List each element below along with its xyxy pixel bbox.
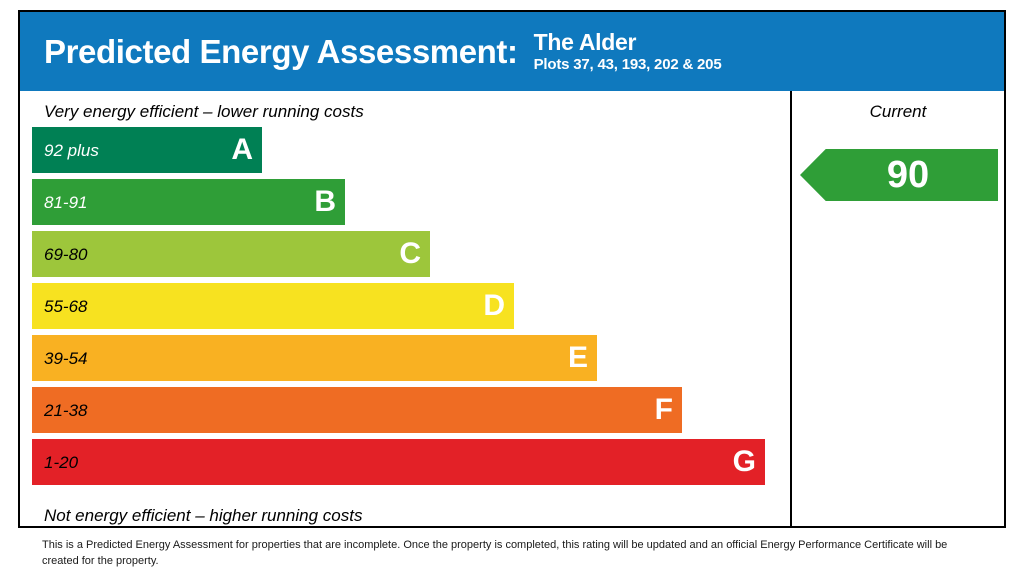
current-rating-value: 90 (869, 156, 929, 194)
band-row-f: 21-38F (32, 387, 765, 433)
band-row-e: 39-54E (32, 335, 765, 381)
band-bar-list: 92 plusA81-91B69-80C55-68D39-54E21-38F1-… (32, 127, 765, 491)
chart-caption-bottom: Not energy efficient – higher running co… (44, 506, 362, 526)
band-range-label: 1-20 (44, 454, 78, 471)
current-rating-arrow: 90 (800, 149, 998, 201)
band-letter-label: D (483, 291, 505, 321)
band-letter-label: G (733, 447, 756, 477)
band-letter-label: A (231, 135, 253, 165)
property-info: The Alder Plots 37, 43, 193, 202 & 205 (534, 30, 722, 72)
property-name: The Alder (534, 30, 722, 54)
band-range-label: 21-38 (44, 402, 87, 419)
page-title: Predicted Energy Assessment: (44, 33, 518, 71)
certificate-frame: Predicted Energy Assessment: The Alder P… (18, 10, 1006, 528)
band-letter-label: C (399, 239, 421, 269)
epc-certificate: Predicted Energy Assessment: The Alder P… (0, 0, 1024, 576)
property-plots: Plots 37, 43, 193, 202 & 205 (534, 57, 722, 73)
band-bar-b: 81-91B (32, 179, 345, 225)
current-rating-column: Current 90 (792, 91, 1004, 526)
band-bar-e: 39-54E (32, 335, 597, 381)
band-row-g: 1-20G (32, 439, 765, 485)
band-bar-g: 1-20G (32, 439, 765, 485)
certificate-body: Very energy efficient – lower running co… (20, 91, 1004, 526)
band-row-d: 55-68D (32, 283, 765, 329)
band-letter-label: B (314, 187, 336, 217)
band-letter-label: F (655, 395, 673, 425)
footnote-text: This is a Predicted Energy Assessment fo… (42, 538, 982, 570)
band-bar-d: 55-68D (32, 283, 514, 329)
band-range-label: 55-68 (44, 298, 87, 315)
band-row-c: 69-80C (32, 231, 765, 277)
band-letter-label: E (568, 343, 588, 373)
chart-caption-top: Very energy efficient – lower running co… (44, 102, 364, 122)
band-row-b: 81-91B (32, 179, 765, 225)
energy-band-chart: Very energy efficient – lower running co… (20, 91, 790, 526)
band-range-label: 81-91 (44, 194, 87, 211)
certificate-header: Predicted Energy Assessment: The Alder P… (20, 12, 1004, 91)
band-row-a: 92 plusA (32, 127, 765, 173)
band-range-label: 69-80 (44, 246, 87, 263)
current-column-label: Current (792, 102, 1004, 122)
band-bar-c: 69-80C (32, 231, 430, 277)
band-bar-f: 21-38F (32, 387, 682, 433)
band-range-label: 39-54 (44, 350, 87, 367)
band-range-label: 92 plus (44, 142, 99, 159)
band-bar-a: 92 plusA (32, 127, 262, 173)
